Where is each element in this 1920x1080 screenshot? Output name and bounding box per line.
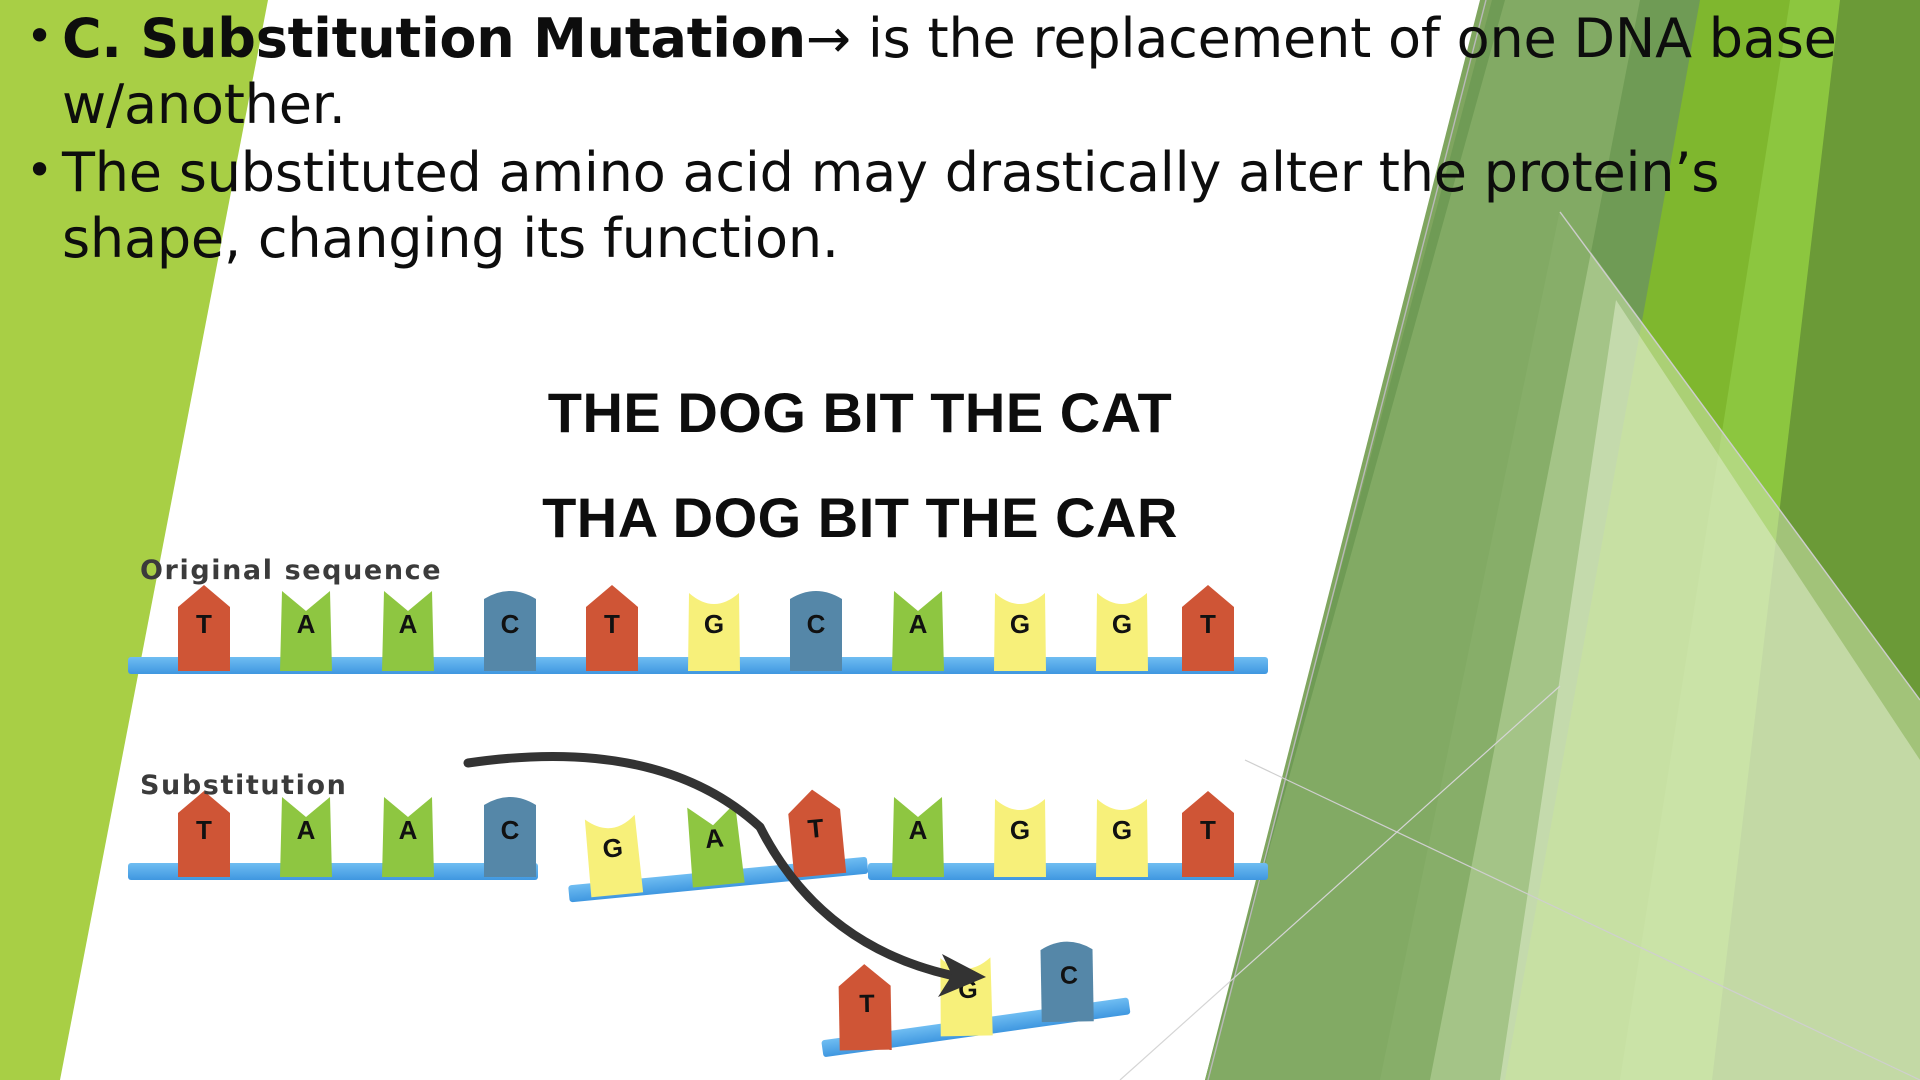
sub-base-T-1: T (178, 791, 230, 877)
base-letter-T: T (604, 609, 620, 639)
sub-base-G-10: G (1096, 799, 1148, 877)
sub-base-G-9: G (994, 799, 1046, 877)
base-letter-G: G (1112, 815, 1132, 845)
base-letter-G: G (1010, 815, 1030, 845)
original-sequence-row: T A A C T (128, 585, 1268, 674)
base-C-7: C (790, 591, 842, 671)
base-T-1: T (178, 585, 230, 671)
hairline-3 (1245, 760, 1920, 1080)
slide-canvas: • C. Substitution Mutation→ is the repla… (0, 0, 1920, 1080)
base-letter-A: A (909, 609, 928, 639)
base-G-9: G (994, 593, 1046, 671)
substitution-label: Substitution (140, 770, 348, 801)
substitution-sequence-row: T A A C (128, 785, 1268, 902)
base-letter-T: T (196, 609, 212, 639)
base-letter-C: C (807, 609, 826, 639)
right-pale-wedge (1380, 210, 1920, 1080)
base-letter-T: T (196, 815, 212, 845)
sub-base-A-3: A (382, 797, 434, 877)
base-letter-C: C (501, 815, 520, 845)
dna-diagram-svg: T A A C T (120, 545, 1340, 1065)
base-letter-A: A (703, 822, 725, 854)
base-A-2: A (280, 591, 332, 671)
bullet-item-1: • C. Substitution Mutation→ is the repla… (18, 6, 1873, 138)
original-sequence-label: Original sequence (140, 555, 442, 586)
base-G-10: G (1096, 593, 1148, 671)
sub-base-T-11: T (1182, 791, 1234, 877)
base-letter-G: G (1112, 609, 1132, 639)
sub-base-A-8: A (892, 797, 944, 877)
base-T-11: T (1182, 585, 1234, 671)
removed-fragment-TGC: T G C (811, 925, 1131, 1059)
bullet-marker-icon-2: • (26, 140, 53, 201)
sentence-mutated: THA DOG BIT THE CAR (0, 485, 1820, 550)
base-letter-G: G (704, 609, 724, 639)
sub-base-A-2: A (280, 797, 332, 877)
base-letter-G: G (601, 832, 624, 864)
base-A-8: A (892, 591, 944, 671)
base-G-6: G (688, 593, 740, 671)
base-A-3: A (382, 591, 434, 671)
tilted-fragment-GAT: G A T (561, 785, 868, 902)
sentence-original: THE DOG BIT THE CAT (0, 380, 1820, 445)
base-letter-A: A (297, 609, 316, 639)
sub-base-G-5: G (584, 815, 643, 898)
sub-base-C-4: C (484, 797, 536, 877)
bullet-1-bold-lead: C. Substitution Mutation (62, 7, 806, 70)
sub-base-A-6: A (685, 803, 744, 888)
base-letter-T: T (1200, 815, 1216, 845)
base-letter-A: A (399, 815, 418, 845)
base-letter-C: C (501, 609, 520, 639)
rem-base-G: G (930, 951, 1002, 1042)
bullet-2-text: The substituted amino acid may drastical… (62, 141, 1719, 270)
dna-substitution-diagram: Original sequence Substitution (120, 545, 1340, 1065)
base-letter-T: T (859, 990, 875, 1018)
body-text-block: • C. Substitution Mutation→ is the repla… (18, 6, 1873, 274)
sub-base-T-7: T (786, 787, 846, 878)
base-letter-A: A (909, 815, 928, 845)
base-C-4: C (484, 591, 536, 671)
bullet-item-2: • The substituted amino acid may drastic… (18, 140, 1873, 272)
base-letter-C: C (1060, 961, 1079, 989)
hairline-2 (1560, 212, 1920, 700)
bullet-marker-icon: • (26, 6, 53, 67)
base-letter-A: A (297, 815, 316, 845)
base-letter-G: G (1010, 609, 1030, 639)
base-T-5: T (586, 585, 638, 671)
base-letter-T: T (1200, 609, 1216, 639)
right-arrow-icon: → (806, 7, 851, 70)
base-letter-A: A (399, 609, 418, 639)
base-letter-T: T (806, 813, 825, 844)
